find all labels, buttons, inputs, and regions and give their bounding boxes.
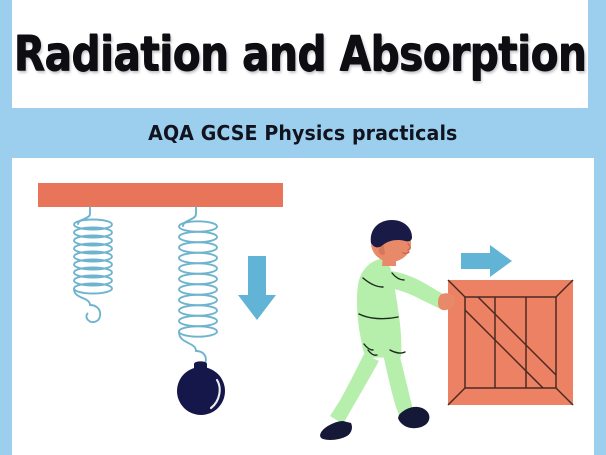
rightward-motion-arrow-icon xyxy=(461,245,512,277)
person-pushing-crate xyxy=(320,220,573,440)
spring-unloaded-icon xyxy=(74,207,112,322)
illustration-panel xyxy=(12,158,594,455)
downward-force-arrow-icon xyxy=(238,256,276,320)
hookes-law-and-force-illustration xyxy=(12,158,594,455)
poster-canvas: Radiation and Absorption AQA GCSE Physic… xyxy=(0,0,606,455)
support-beam-icon xyxy=(38,183,283,207)
hookes-law-springs xyxy=(38,183,283,415)
page-title: Radiation and Absorption xyxy=(14,30,587,78)
wooden-crate-icon xyxy=(448,280,573,405)
person-pushing-icon xyxy=(320,220,455,440)
subtitle-band: AQA GCSE Physics practicals xyxy=(0,108,606,158)
title-card: Radiation and Absorption xyxy=(12,0,588,108)
hanging-mass-icon xyxy=(177,361,225,415)
spring-stretched-icon xyxy=(179,207,217,362)
page-subtitle: AQA GCSE Physics practicals xyxy=(148,121,457,145)
